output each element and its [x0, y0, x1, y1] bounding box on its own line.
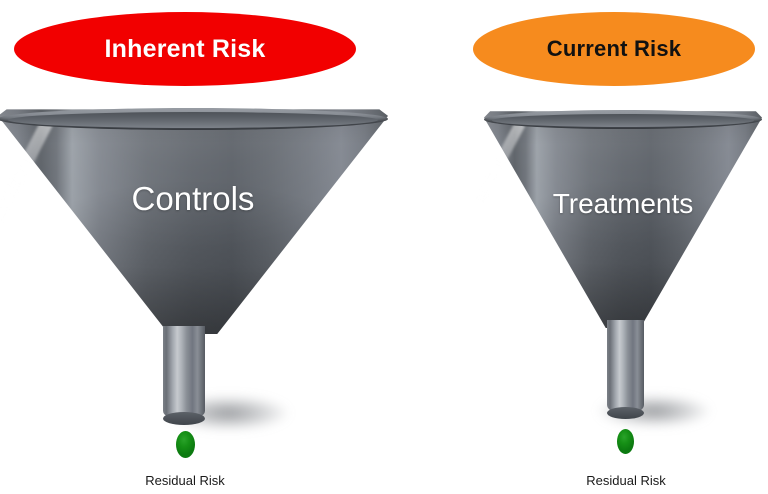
- residual-risk-drop-right: [617, 429, 634, 454]
- residual-risk-caption-right: Residual Risk: [526, 473, 726, 488]
- residual-risk-drop-left: [176, 431, 195, 458]
- funnel-rim-inner: [8, 112, 378, 128]
- treatments-label-text: Treatments: [553, 188, 694, 219]
- funnel-stem-tip: [163, 412, 205, 425]
- controls-funnel: Controls: [0, 108, 388, 420]
- funnel-stem: [163, 326, 205, 420]
- funnel-stem: [607, 320, 644, 414]
- diagram-canvas: Inherent Risk Controls Residual Risk Cur…: [0, 0, 768, 494]
- residual-risk-label-left: Residual Risk: [145, 473, 224, 488]
- treatments-funnel: Treatments: [484, 110, 762, 422]
- controls-label-text: Controls: [132, 180, 255, 217]
- current-risk-label: Current Risk: [547, 38, 681, 60]
- current-risk-ellipse: Current Risk: [473, 12, 755, 86]
- residual-risk-caption-left: Residual Risk: [85, 473, 285, 488]
- funnel-rim-inner: [492, 114, 754, 127]
- inherent-risk-label: Inherent Risk: [105, 37, 266, 62]
- funnel-stem-tip: [607, 407, 644, 419]
- controls-label: Controls: [0, 180, 388, 218]
- funnel-ground-shadow: [580, 390, 728, 432]
- treatments-label: Treatments: [484, 188, 762, 220]
- inherent-risk-ellipse: Inherent Risk: [14, 12, 356, 86]
- funnel-cone-shading: [0, 108, 388, 334]
- residual-risk-label-right: Residual Risk: [586, 473, 665, 488]
